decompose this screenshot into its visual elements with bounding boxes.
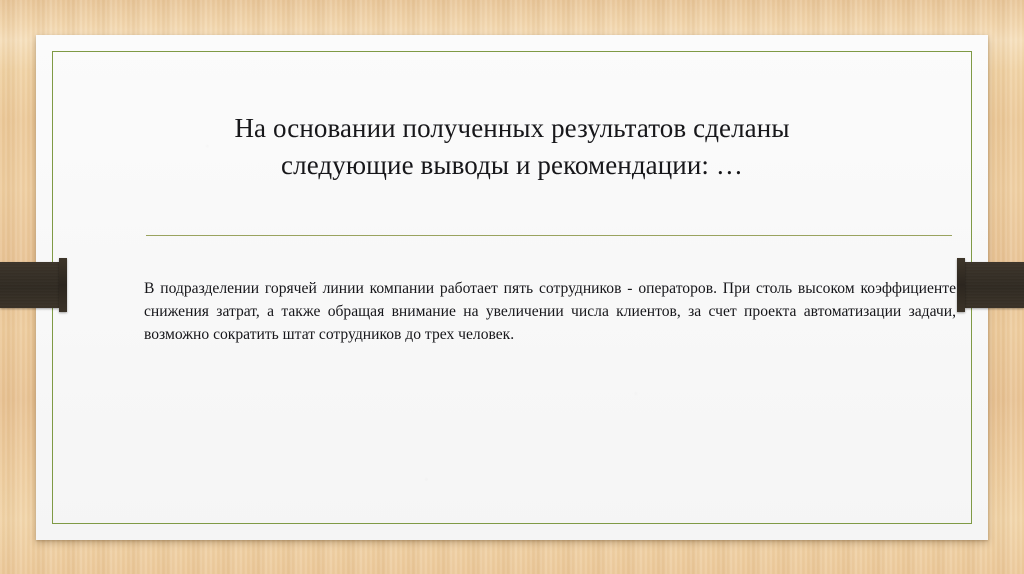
title-divider-rule [146, 235, 952, 236]
ribbon-bookmark-left [0, 262, 59, 308]
body-paragraph: В подразделении горячей линии компании р… [144, 277, 956, 347]
slide-card: На основании полученных результатов сдел… [36, 35, 988, 540]
page-title: На основании полученных результатов сдел… [96, 110, 928, 184]
title-line-1: На основании полученных результатов сдел… [96, 110, 928, 147]
ribbon-tab-left-icon [59, 258, 67, 312]
slide-canvas: На основании полученных результатов сдел… [0, 0, 1024, 574]
title-line-2: следующие выводы и рекомендации: … [96, 147, 928, 184]
ribbon-bookmark-right [965, 262, 1024, 308]
ribbon-tab-right-icon [957, 258, 965, 312]
